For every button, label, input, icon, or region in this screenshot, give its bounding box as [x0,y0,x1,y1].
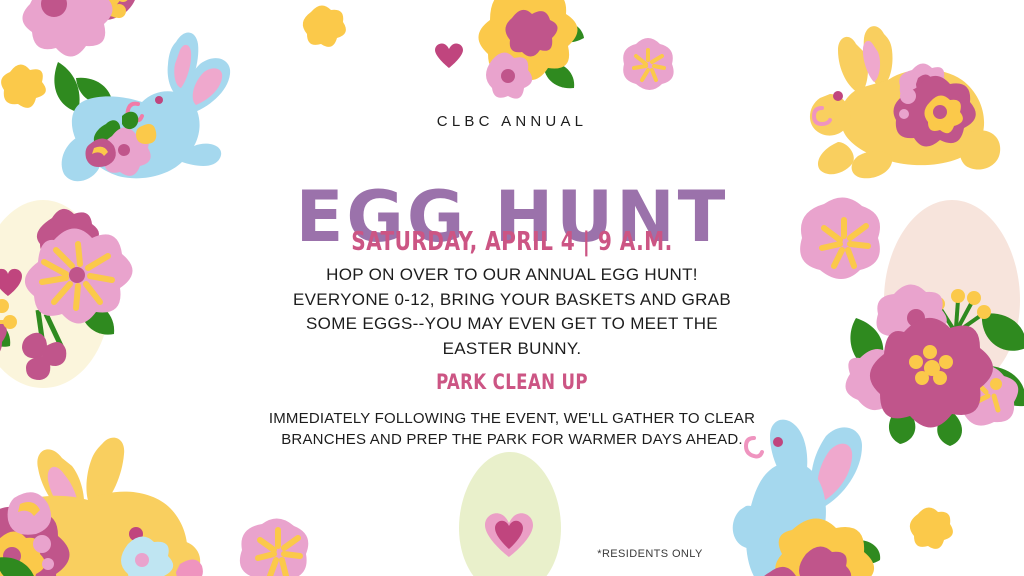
description-line-3: SOME EGGS--YOU MAY EVEN GET TO MEET THE [262,312,762,337]
footnote-text: *RESIDENTS ONLY [520,548,780,560]
eyebrow-text: CLBC ANNUAL [0,113,1024,130]
description-line-1: HOP ON OVER TO OUR ANNUAL EGG HUNT! [262,263,762,288]
flyer-text-content: CLBC ANNUAL EGG HUNT SATURDAY, APRIL 4 |… [0,0,1024,576]
section-subheading: PARK CLEAN UP [61,370,962,394]
cleanup-line-2: BRANCHES AND PREP THE PARK FOR WARMER DA… [242,429,782,450]
description-line-2: EVERYONE 0-12, BRING YOUR BASKETS AND GR… [262,288,762,313]
event-dateline: SATURDAY, APRIL 4 | 9 A.M. [72,227,953,257]
description-line-4: EASTER BUNNY. [262,337,762,362]
cleanup-line-1: IMMEDIATELY FOLLOWING THE EVENT, WE'LL G… [242,408,782,429]
event-description: HOP ON OVER TO OUR ANNUAL EGG HUNT! EVER… [262,263,762,361]
easter-egg-hunt-flyer: CLBC ANNUAL EGG HUNT SATURDAY, APRIL 4 |… [0,0,1024,576]
cleanup-description: IMMEDIATELY FOLLOWING THE EVENT, WE'LL G… [242,408,782,450]
